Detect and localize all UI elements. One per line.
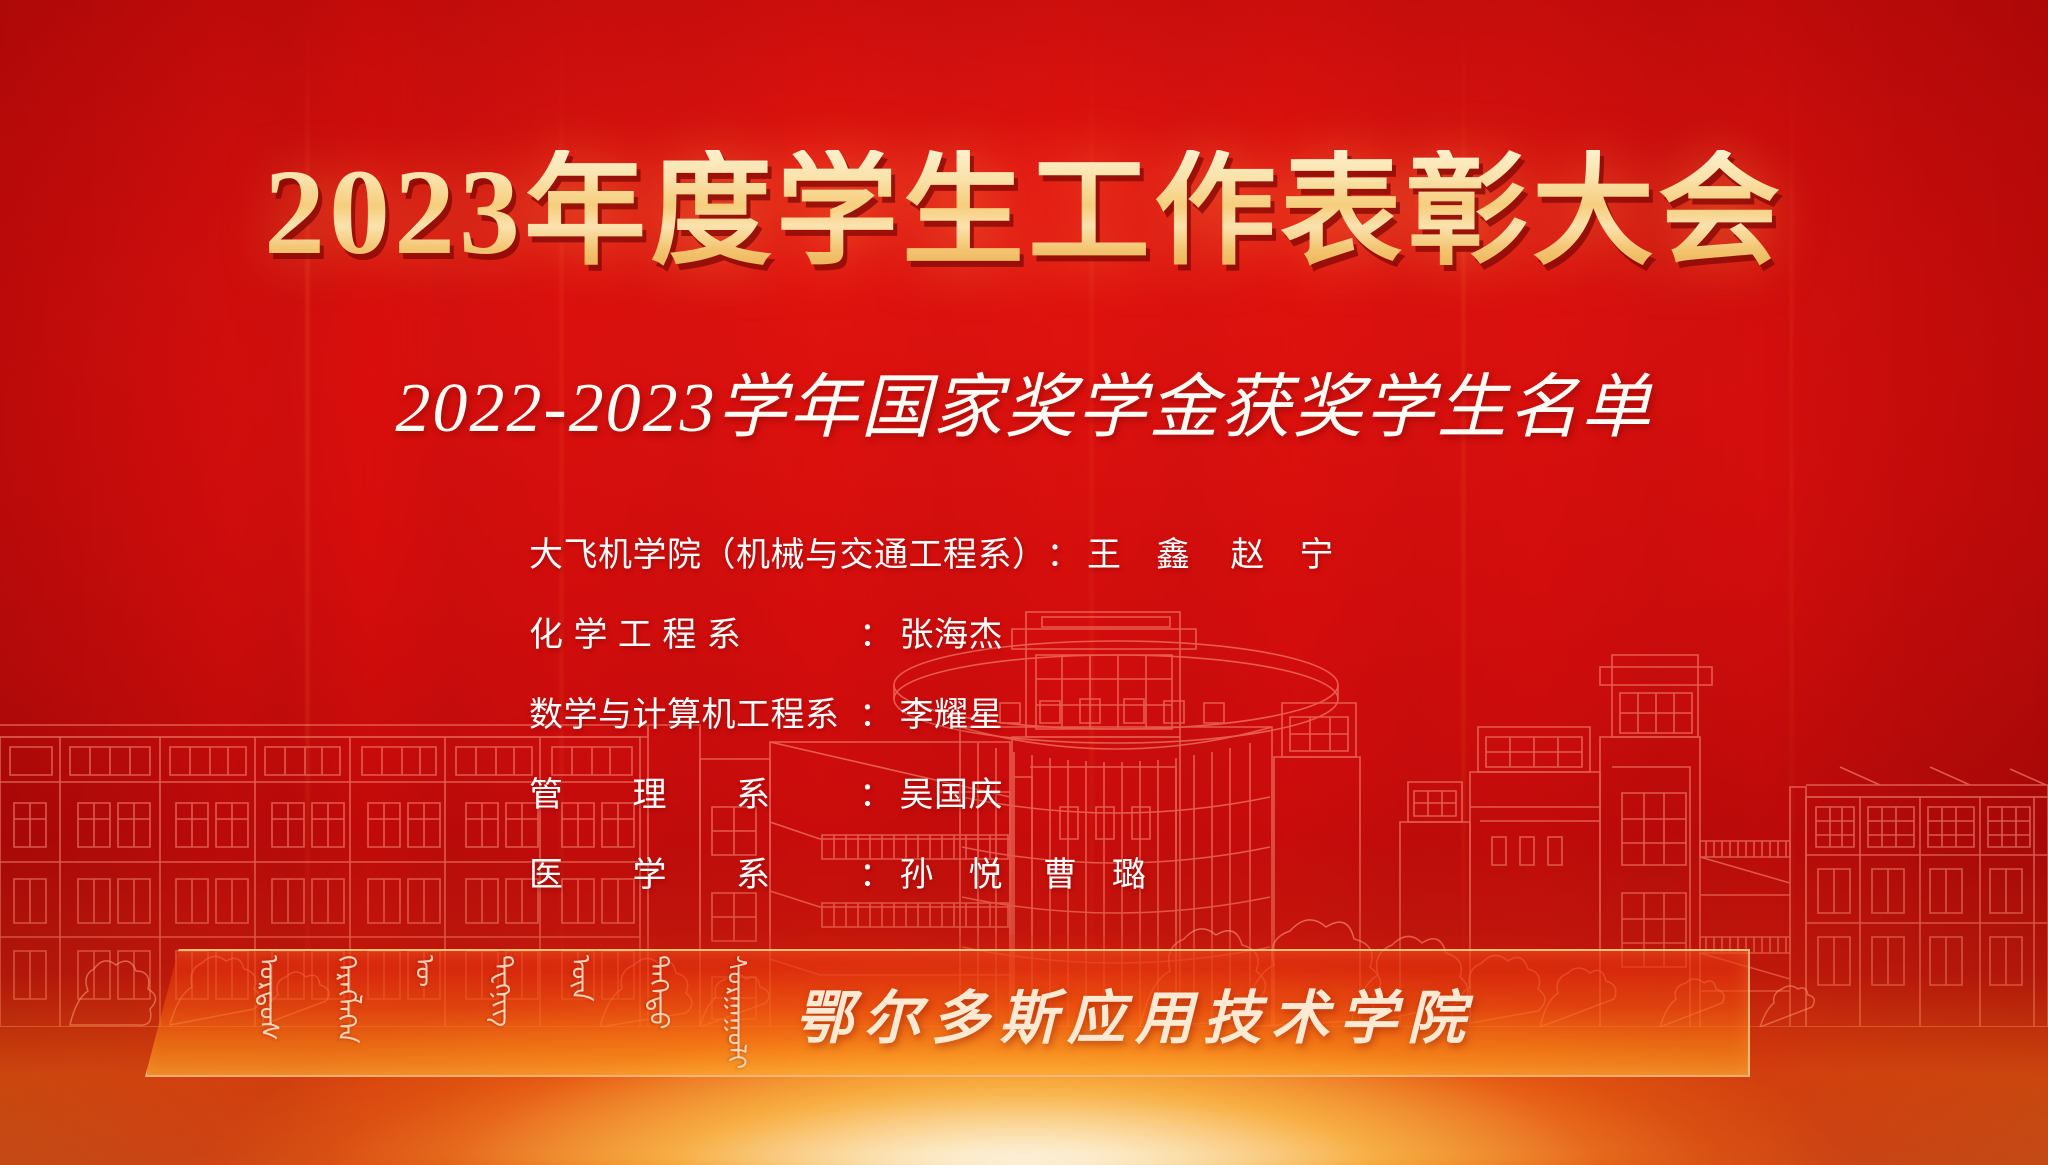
awardee-name: 王 鑫 — [1087, 527, 1191, 576]
mongolian-word: ᠬᠡᠷᠡᠭᠯᠡᠭᠡᠨ — [333, 955, 359, 1043]
department-name: 医 学 系 — [529, 847, 859, 896]
poster-canvas: 2023年度学生工作表彰大会 2022-2023学年国家奖学金获奖学生名单 大飞… — [0, 0, 2048, 1165]
awardee-name: 吴国庆 — [900, 767, 1004, 816]
awardee-names: 吴国庆 — [900, 767, 1004, 816]
list-item: 化 学 工 程 系： 张海杰 — [529, 607, 1334, 687]
mongolian-word: ᠲᠧᠭᠨᠢᠭ — [489, 955, 515, 1027]
department-name: 数学与计算机工程系 — [529, 687, 859, 736]
awardee-names: 王 鑫赵 宁 — [1087, 527, 1334, 576]
main-title-container: 2023年度学生工作表彰大会 — [0, 150, 2048, 277]
awardee-name: 张海杰 — [900, 607, 1004, 656]
list-item: 医 学 系： 孙 悦曹 璐 — [529, 847, 1334, 927]
awardee-name: 李耀星 — [900, 687, 1004, 736]
awardee-list: 大飞机学院（机械与交通工程系）： 王 鑫赵 宁 化 学 工 程 系： 张海杰 数… — [529, 527, 1334, 927]
list-item: 大飞机学院（机械与交通工程系）： 王 鑫赵 宁 — [529, 527, 1334, 607]
list-item: 管 理 系： 吴国庆 — [529, 767, 1334, 847]
mongolian-word: ᠰᠤᠷᠭᠠᠭᠤᠯᠢ — [723, 955, 749, 1069]
mongolian-script: ᠣᠷᠳᠣᠰ ᠬᠡᠷᠡᠭᠯᠡᠭᠡᠨ ᠦ ᠲᠧᠭᠨᠢᠭ ᠦᠨ ᠳᠡᠭᠡᠳᠦ ᠰᠤᠷᠭ… — [255, 943, 749, 1083]
awardee-names: 张海杰 — [900, 607, 1004, 656]
subtitle: 2022-2023学年国家奖学金获奖学生名单 — [395, 370, 1652, 447]
separator: ： — [859, 767, 894, 816]
department-name: 管 理 系 — [529, 767, 859, 816]
separator: ： — [859, 607, 894, 656]
awardee-name: 赵 宁 — [1231, 527, 1335, 576]
mongolian-word: ᠦ — [411, 955, 437, 987]
department-name: 化 学 工 程 系 — [529, 607, 859, 656]
list-item: 数学与计算机工程系： 李耀星 — [529, 687, 1334, 767]
awardee-name: 曹 璐 — [1043, 847, 1147, 896]
separator: ： — [859, 847, 894, 896]
awardee-name: 孙 悦 — [900, 847, 1004, 896]
banner-content: ᠣᠷᠳᠣᠰ ᠬᠡᠷᠡᠭᠯᠡᠭᠡᠨ ᠦ ᠲᠧᠭᠨᠢᠭ ᠦᠨ ᠳᠡᠭᠡᠳᠦ ᠰᠤᠷᠭ… — [145, 949, 1750, 1077]
mongolian-word: ᠦᠨ — [567, 955, 593, 1001]
awardee-names: 孙 悦曹 璐 — [900, 847, 1147, 896]
main-title: 2023年度学生工作表彰大会 — [264, 150, 1784, 277]
separator: ： — [859, 687, 894, 736]
institution-banner: ᠣᠷᠳᠣᠰ ᠬᠡᠷᠡᠭᠯᠡᠭᠡᠨ ᠦ ᠲᠧᠭᠨᠢᠭ ᠦᠨ ᠳᠡᠭᠡᠳᠦ ᠰᠤᠷᠭ… — [145, 949, 1750, 1077]
department-name: 大飞机学院（机械与交通工程系） — [529, 527, 1047, 576]
awardee-names: 李耀星 — [900, 687, 1004, 736]
separator: ： — [1047, 527, 1082, 576]
subtitle-container: 2022-2023学年国家奖学金获奖学生名单 — [0, 370, 2048, 447]
school-name: 鄂尔多斯应用技术学院 — [795, 971, 1475, 1055]
mongolian-word: ᠣᠷᠳᠣᠰ — [255, 955, 281, 1041]
mongolian-word: ᠳᠡᠭᠡᠳᠦ — [645, 955, 671, 1030]
